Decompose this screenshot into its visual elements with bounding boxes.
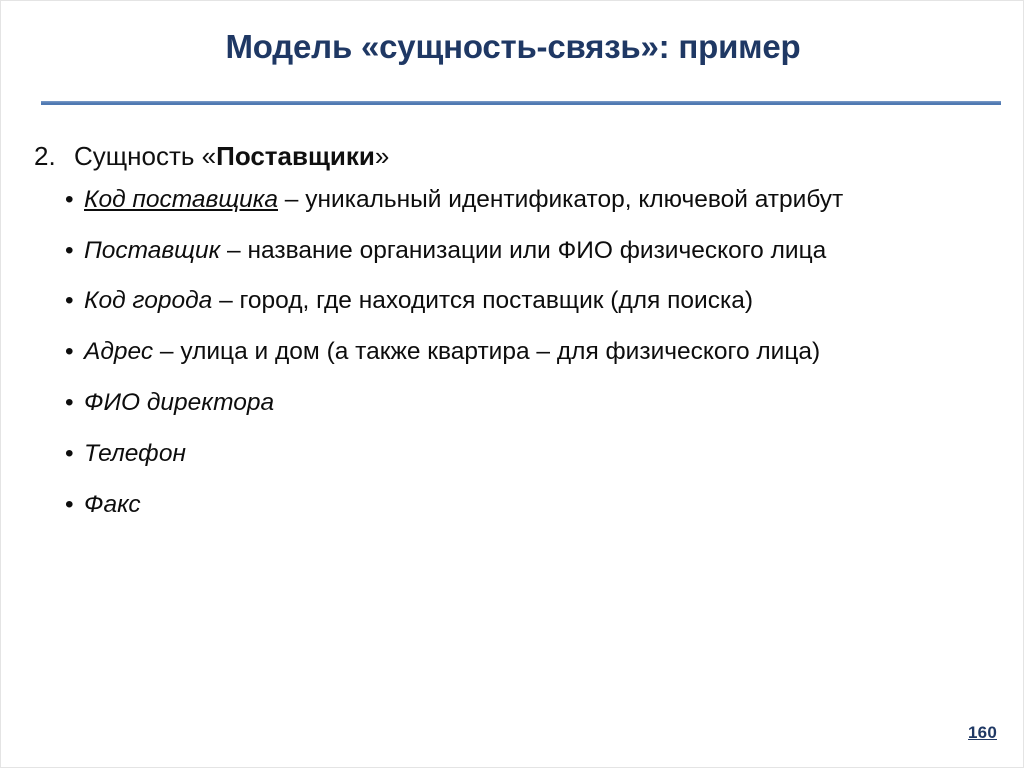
bullet-dot-icon: •	[65, 439, 74, 469]
list-item: • Поставщик – название организации или Ф…	[34, 236, 1012, 266]
attribute-term: Поставщик	[84, 237, 220, 264]
numbered-heading-number: 2.	[34, 141, 74, 173]
attribute-term: Факс	[84, 491, 141, 518]
page-number: 160	[968, 723, 997, 743]
list-item-text: Факс	[84, 490, 1012, 520]
attribute-description: – улица и дом (а также квартира – для фи…	[153, 338, 820, 365]
attribute-list: • Код поставщика – уникальный идентифика…	[34, 185, 1012, 520]
slide: Модель «сущность-связь»: пример 2. Сущно…	[0, 0, 1024, 768]
bullet-dot-icon: •	[65, 185, 74, 215]
bullet-dot-icon: •	[65, 337, 74, 367]
attribute-description: – уникальный идентификатор, ключевой атр…	[278, 186, 843, 213]
list-item: • ФИО директора	[34, 388, 1012, 418]
page-title: Модель «сущность-связь»: пример	[225, 29, 800, 66]
attribute-term: ФИО директора	[84, 389, 274, 416]
list-item: • Код города – город, где находится пост…	[34, 286, 1012, 316]
heading-text-after: »	[375, 141, 389, 171]
slide-body: 2. Сущность «Поставщики» • Код поставщик…	[34, 141, 1012, 541]
list-item-text: Поставщик – название организации или ФИО…	[84, 236, 1012, 266]
bullet-dot-icon: •	[65, 388, 74, 418]
attribute-term: Адрес	[84, 338, 153, 365]
attribute-description: – город, где находится поставщик (для по…	[212, 287, 753, 314]
list-item-text: Код поставщика – уникальный идентификато…	[84, 185, 1012, 215]
list-item: • Код поставщика – уникальный идентифика…	[34, 185, 1012, 215]
attribute-term: Телефон	[84, 440, 186, 467]
attribute-term: Код поставщика	[84, 186, 278, 213]
bullet-dot-icon: •	[65, 286, 74, 316]
title-divider-rule	[41, 101, 1001, 105]
bullet-dot-icon: •	[65, 490, 74, 520]
heading-text-before: Сущность «	[74, 141, 216, 171]
attribute-term: Код города	[84, 287, 212, 314]
list-item-text: Код города – город, где находится постав…	[84, 286, 1012, 316]
slide-title-area: Модель «сущность-связь»: пример	[1, 29, 1024, 66]
list-item: • Адрес – улица и дом (а также квартира …	[34, 337, 1012, 367]
heading-text-bold: Поставщики	[216, 141, 375, 171]
list-item-text: ФИО директора	[84, 388, 1012, 418]
bullet-dot-icon: •	[65, 236, 74, 266]
attribute-description: – название организации или ФИО физическо…	[220, 237, 826, 264]
list-item-text: Телефон	[84, 439, 1012, 469]
list-item-text: Адрес – улица и дом (а также квартира – …	[84, 337, 1012, 367]
numbered-heading-text: Сущность «Поставщики»	[74, 141, 1012, 173]
numbered-heading: 2. Сущность «Поставщики»	[34, 141, 1012, 173]
list-item: • Факс	[34, 490, 1012, 520]
list-item: • Телефон	[34, 439, 1012, 469]
